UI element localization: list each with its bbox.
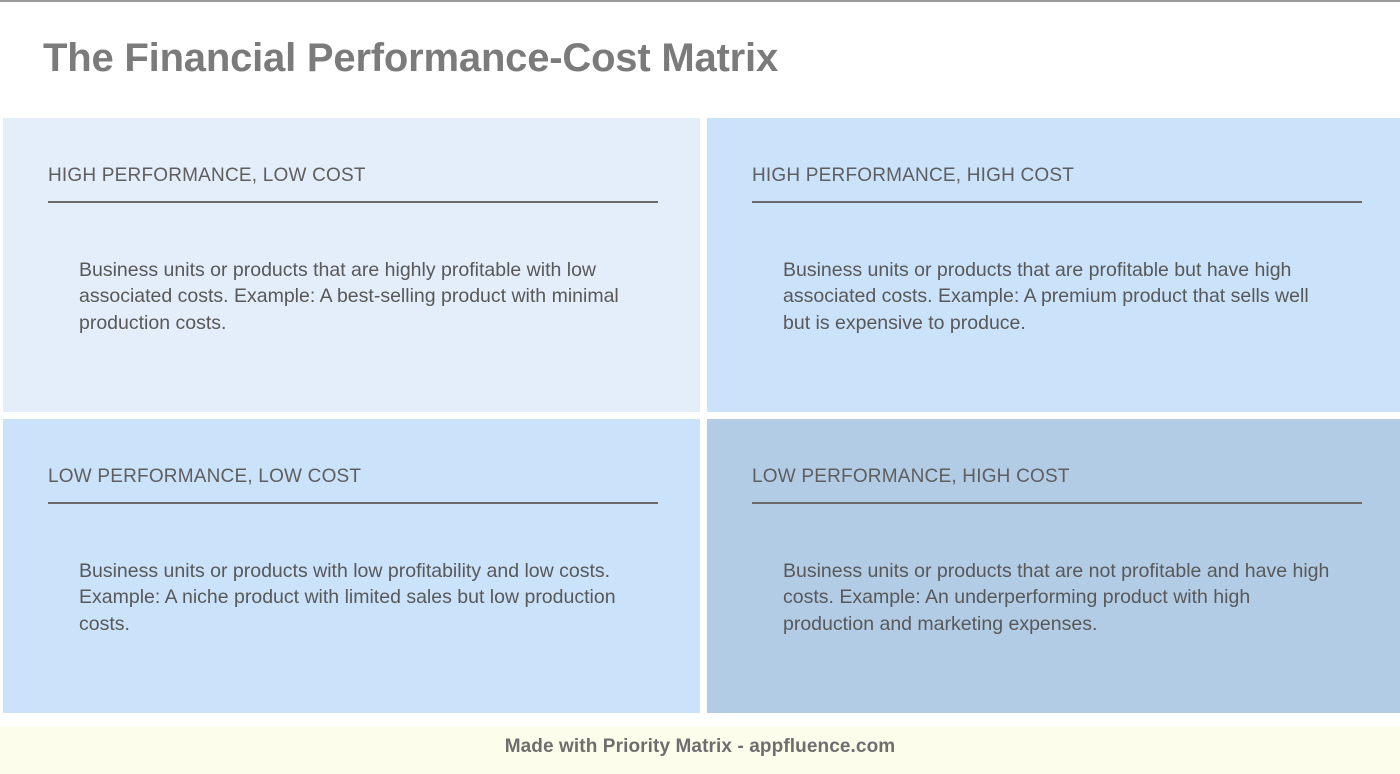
quadrant-low-performance-high-cost[interactable]: LOW PERFORMANCE, HIGH COST Business unit… [707, 419, 1400, 713]
quadrant-title: HIGH PERFORMANCE, LOW COST [48, 166, 658, 203]
quadrant-low-performance-low-cost[interactable]: LOW PERFORMANCE, LOW COST Business units… [3, 419, 700, 713]
quadrant-title: HIGH PERFORMANCE, HIGH COST [752, 166, 1362, 203]
page-header: The Financial Performance-Cost Matrix [0, 2, 1400, 114]
priority-matrix-page: The Financial Performance-Cost Matrix HI… [0, 0, 1400, 774]
quadrant-description: Business units or products that are not … [752, 558, 1362, 638]
page-title: The Financial Performance-Cost Matrix [43, 38, 778, 78]
quadrant-title: LOW PERFORMANCE, HIGH COST [752, 467, 1362, 504]
quadrant-title: LOW PERFORMANCE, LOW COST [48, 467, 658, 504]
quadrant-description: Business units or products with low prof… [48, 558, 658, 638]
page-footer: Made with Priority Matrix - appfluence.c… [0, 727, 1400, 774]
quadrant-matrix: HIGH PERFORMANCE, LOW COST Business unit… [0, 114, 1400, 727]
footer-attribution[interactable]: Made with Priority Matrix - appfluence.c… [505, 736, 896, 758]
quadrant-high-performance-high-cost[interactable]: HIGH PERFORMANCE, HIGH COST Business uni… [707, 118, 1400, 412]
quadrant-description: Business units or products that are high… [48, 257, 658, 337]
quadrant-high-performance-low-cost[interactable]: HIGH PERFORMANCE, LOW COST Business unit… [3, 118, 700, 412]
quadrant-description: Business units or products that are prof… [752, 257, 1362, 337]
